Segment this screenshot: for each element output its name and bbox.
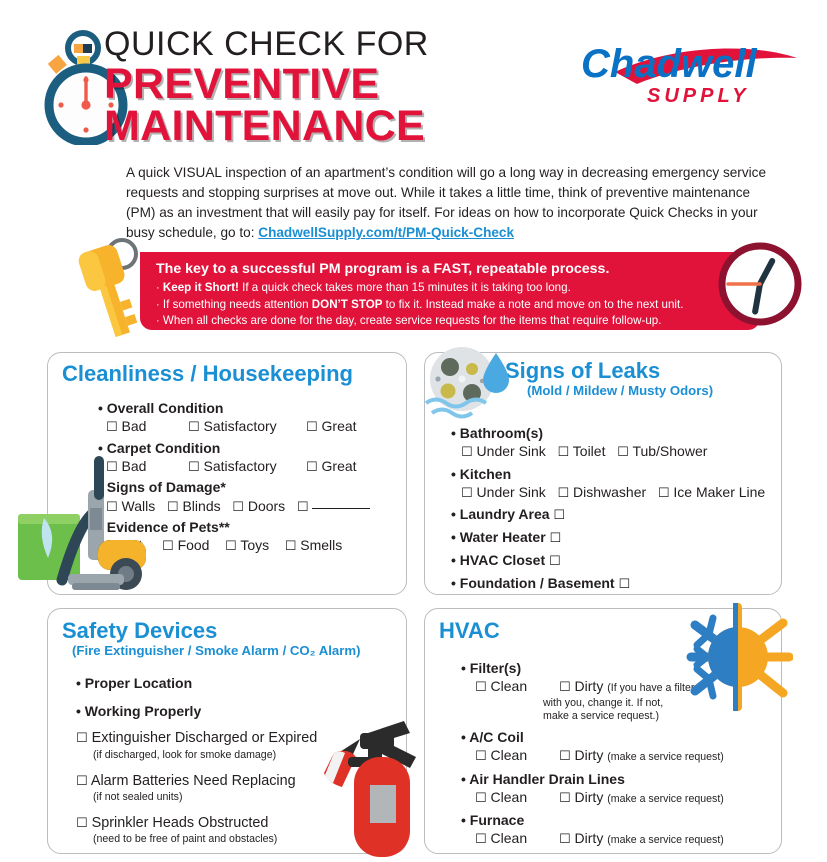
safety-bullet-0: Proper Location <box>85 675 192 691</box>
hvac-item-1-options: ☐ Clean☐ Dirty (make a service request) <box>475 746 761 766</box>
checkbox[interactable]: ☐ <box>76 731 88 746</box>
checkbox[interactable]: ☐ <box>106 420 118 435</box>
checkbox[interactable]: ☐ <box>553 508 565 523</box>
chadwell-supply-logo: Chadwell SUPPLY <box>575 32 805 110</box>
leaks-subtitle: (Mold / Mildew / Musty Odors) <box>527 383 713 398</box>
hvac-item-3-options: ☐ Clean☐ Dirty (make a service request) <box>475 829 761 849</box>
hvac-item-2-options: ☐ Clean☐ Dirty (make a service request) <box>475 788 761 808</box>
checkbox[interactable]: ☐ <box>188 460 200 475</box>
option-label: Doors <box>248 498 285 514</box>
leaks-item-0-label: Bathroom(s) <box>460 425 543 441</box>
option-label: Clean <box>491 747 528 763</box>
hvac-item-0-label: Filter(s) <box>470 660 521 676</box>
option-label: Clean <box>491 789 528 805</box>
leaks-checklist: • Bathroom(s) ☐ Under Sink ☐ Toilet ☐ Tu… <box>451 421 765 594</box>
checkbox[interactable]: ☐ <box>475 749 487 764</box>
banner-item-3-text: When all checks are done for the day, cr… <box>163 314 662 327</box>
option-label: Dirty <box>575 747 604 763</box>
vacuum-icon <box>16 452 148 597</box>
checkbox[interactable]: ☐ <box>76 816 88 831</box>
list-item: • Overall Condition <box>98 399 370 417</box>
banner-item-1-bold: Keep it Short! <box>163 281 239 294</box>
list-item: • Furnace <box>461 811 761 829</box>
leaks-item-1-options: ☐ Under Sink ☐ Dishwasher ☐ Ice Maker Li… <box>461 483 765 503</box>
checkbox[interactable]: ☐ <box>559 791 571 806</box>
banner-item-2: · If something needs attention DON’T STO… <box>156 297 746 314</box>
leaks-item-1-label: Kitchen <box>460 466 511 482</box>
list-item: • HVAC Closet ☐ <box>451 551 765 571</box>
checkbox[interactable]: ☐ <box>306 460 318 475</box>
title-line-3: MAINTENANCE <box>104 105 429 147</box>
hvac-item-3-label: Furnace <box>470 812 524 828</box>
checkbox[interactable]: ☐ <box>475 680 487 695</box>
checkbox[interactable]: ☐ <box>557 445 569 460</box>
option-label: Dirty <box>575 830 604 846</box>
hvac-item-0-note: (If you have a filter <box>607 682 694 694</box>
hvac-item-2-label: Air Handler Drain Lines <box>469 771 625 787</box>
cleanliness-item-0-label: Overall Condition <box>107 400 224 416</box>
safety-check-1-label: Alarm Batteries Need Replacing <box>91 773 296 789</box>
title-line-1: QUICK CHECK FOR <box>104 27 429 63</box>
checkbox[interactable]: ☐ <box>658 486 670 501</box>
safety-check-2-label: Sprinkler Heads Obstructed <box>92 815 269 831</box>
checkbox[interactable]: ☐ <box>297 500 309 515</box>
fire-extinguisher-icon <box>318 713 426 860</box>
leaks-header: Signs of Leaks (Mold / Mildew / Musty Od… <box>505 359 713 398</box>
key-icon <box>66 232 156 342</box>
list-item: • Laundry Area ☐ <box>451 505 765 525</box>
option-label: Great <box>322 458 357 474</box>
option-label: Toys <box>240 537 269 553</box>
checkbox[interactable]: ☐ <box>285 539 297 554</box>
logo-wordmark: Chadwell <box>581 42 757 86</box>
hvac-item-3-note: (make a service request) <box>607 834 724 846</box>
checkbox[interactable]: ☐ <box>559 832 571 847</box>
checkbox[interactable]: ☐ <box>188 420 200 435</box>
hvac-header: HVAC <box>439 619 500 643</box>
snowflake-sun-icon <box>683 601 793 713</box>
leaks-item-0-options: ☐ Under Sink ☐ Toilet ☐ Tub/Shower <box>461 442 765 462</box>
banner-item-3: · When all checks are done for the day, … <box>156 313 746 330</box>
option-label: Smells <box>300 537 342 553</box>
checkbox[interactable]: ☐ <box>557 486 569 501</box>
checkbox[interactable]: ☐ <box>559 680 571 695</box>
list-item: • Foundation / Basement ☐ <box>451 574 765 594</box>
checkbox[interactable]: ☐ <box>167 500 179 515</box>
checkbox[interactable]: ☐ <box>76 774 88 789</box>
hvac-item-1-note: (make a service request) <box>607 751 724 763</box>
banner-item-2-rest: to fix it. Instead make a note and move … <box>382 298 683 311</box>
option-label: Ice Maker Line <box>673 484 765 500</box>
intro-paragraph: A quick VISUAL inspection of an apartmen… <box>126 163 766 243</box>
option-label: Satisfactory <box>204 418 277 434</box>
banner-body: The key to a successful PM program is a … <box>140 252 760 330</box>
safety-title: Safety Devices <box>62 619 360 643</box>
option-label: Under Sink <box>477 443 546 459</box>
option-label: Dirty <box>575 789 604 805</box>
option-label: Clean <box>491 830 528 846</box>
banner-heading: The key to a successful PM program is a … <box>156 261 746 277</box>
option-label: Blinds <box>182 498 220 514</box>
leaks-title: Signs of Leaks <box>505 359 713 383</box>
checkbox[interactable]: ☐ <box>618 577 630 592</box>
list-item: • A/C Coil <box>461 728 761 746</box>
safety-header: Safety Devices (Fire Extinguisher / Smok… <box>62 619 360 658</box>
logo-subtext: SUPPLY <box>647 85 750 107</box>
checkbox[interactable]: ☐ <box>475 791 487 806</box>
option-label: Bad <box>122 418 147 434</box>
leaks-item-3-label: Water Heater <box>460 529 546 545</box>
list-item: • Bathroom(s) <box>451 424 765 442</box>
hvac-item-2-note: (make a service request) <box>607 793 724 805</box>
checkbox[interactable]: ☐ <box>225 539 237 554</box>
checkbox[interactable]: ☐ <box>232 500 244 515</box>
safety-check-0-label: Extinguisher Discharged or Expired <box>92 730 318 746</box>
checkbox[interactable]: ☐ <box>461 445 473 460</box>
checkbox[interactable]: ☐ <box>617 445 629 460</box>
safety-bullet-1: Working Properly <box>85 703 201 719</box>
page-title: QUICK CHECK FOR PREVENTIVE MAINTENANCE <box>104 27 429 147</box>
option-label: Satisfactory <box>204 458 277 474</box>
leaks-item-2-label: Laundry Area <box>460 506 550 522</box>
option-label: Tub/Shower <box>632 443 707 459</box>
checkbox[interactable]: ☐ <box>306 420 318 435</box>
banner-item-2-bold: DON’T STOP <box>312 298 383 311</box>
list-item: • Proper Location <box>76 674 376 692</box>
cleanliness-title: Cleanliness / Housekeeping <box>62 362 353 386</box>
option-label: Clean <box>491 678 528 694</box>
list-item: • Water Heater ☐ <box>451 528 765 548</box>
checkbox[interactable]: ☐ <box>162 539 174 554</box>
write-in-blank[interactable] <box>312 508 370 509</box>
hvac-title: HVAC <box>439 619 500 643</box>
option-label: Dirty <box>575 678 604 694</box>
mold-droplet-icon <box>420 345 516 421</box>
checkbox[interactable]: ☐ <box>550 531 562 546</box>
clock-icon <box>714 238 806 330</box>
banner-item-1: · Keep it Short! If a quick check takes … <box>156 280 746 297</box>
option-label: Under Sink <box>477 484 546 500</box>
page-header: QUICK CHECK FOR PREVENTIVE MAINTENANCE C… <box>0 0 827 160</box>
pm-quick-check-link[interactable]: ChadwellSupply.com/t/PM-Quick-Check <box>258 225 514 240</box>
banner-item-1-rest: If a quick check takes more than 15 minu… <box>239 281 571 294</box>
title-line-2: PREVENTIVE <box>104 63 429 105</box>
option-label: Toilet <box>573 443 606 459</box>
list-item: • Kitchen <box>451 465 765 483</box>
checkbox[interactable]: ☐ <box>461 486 473 501</box>
hvac-item-1-label: A/C Coil <box>469 729 523 745</box>
leaks-item-4-label: HVAC Closet <box>460 552 545 568</box>
option-label: Dishwasher <box>573 484 646 500</box>
cleanliness-header: Cleanliness / Housekeeping <box>62 362 353 386</box>
key-banner: The key to a successful PM program is a … <box>140 252 760 330</box>
checkbox[interactable]: ☐ <box>549 554 561 569</box>
list-item: • Air Handler Drain Lines <box>461 770 761 788</box>
option-label: Food <box>178 537 210 553</box>
cleanliness-item-0-options: ☐ Bad☐ Satisfactory☐ Great <box>106 417 357 437</box>
checkbox[interactable]: ☐ <box>475 832 487 847</box>
checkbox[interactable]: ☐ <box>559 749 571 764</box>
banner-item-2-pre: If something needs attention <box>163 298 312 311</box>
option-label: Great <box>322 418 357 434</box>
safety-subtitle: (Fire Extinguisher / Smoke Alarm / CO₂ A… <box>72 643 360 658</box>
leaks-item-5-label: Foundation / Basement <box>460 575 615 591</box>
